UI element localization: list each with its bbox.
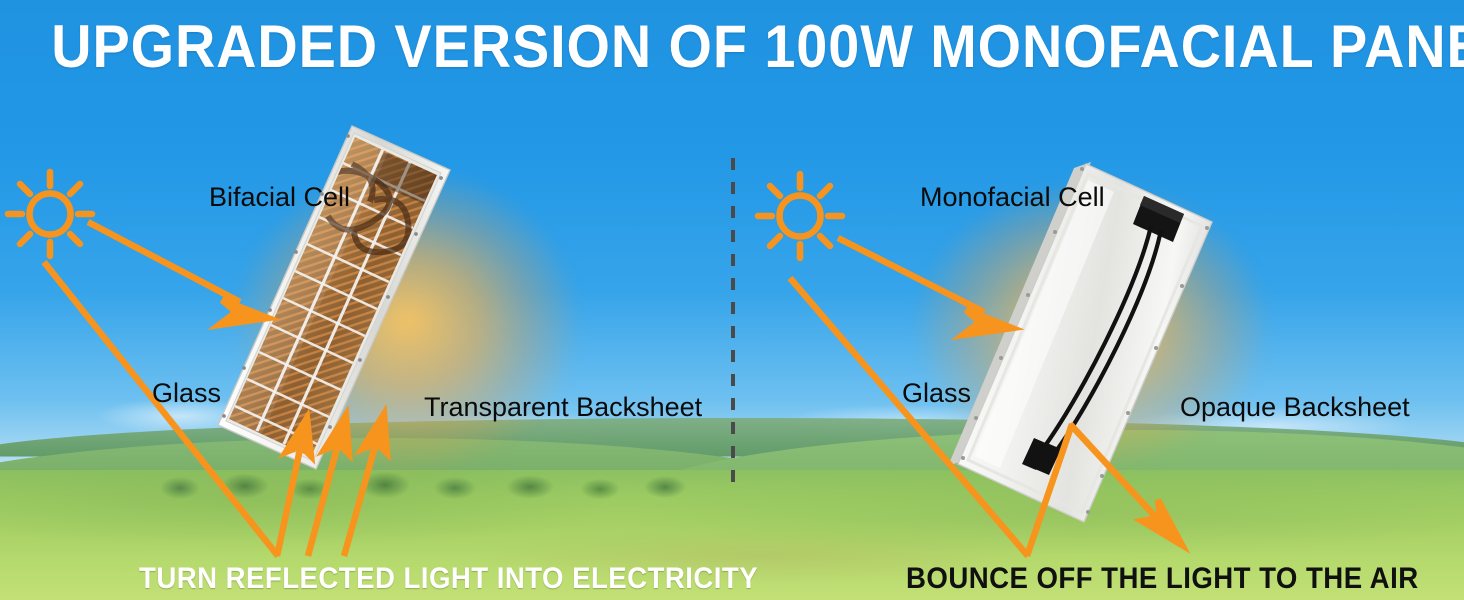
arrow-up-reflected-2 xyxy=(308,415,349,556)
label-transparent-backsheet: Transparent Backsheet xyxy=(424,392,702,422)
label-monofacial-cell: Monofacial Cell xyxy=(920,182,1105,212)
arrow-incident-light-left xyxy=(88,222,268,325)
infographic-canvas: UPGRADED VERSION OF 100W MONOFACIAL PANE… xyxy=(0,0,1464,600)
caption-left: TURN REFLECTED LIGHT INTO ELECTRICITY xyxy=(139,562,758,596)
arrow-bounce-to-air xyxy=(1027,424,1182,556)
label-bifacial-cell: Bifacial Cell xyxy=(209,182,350,212)
arrow-up-reflected-1 xyxy=(277,418,311,556)
arrow-incident-light-right xyxy=(838,238,1012,335)
label-glass-left: Glass xyxy=(152,378,221,408)
caption-right: BOUNCE OFF THE LIGHT TO THE AIR xyxy=(906,562,1419,596)
label-opaque-backsheet: Opaque Backsheet xyxy=(1180,392,1410,422)
page-title: UPGRADED VERSION OF 100W MONOFACIAL PANE… xyxy=(51,14,1413,80)
label-glass-right: Glass xyxy=(902,378,971,408)
section-divider xyxy=(731,158,735,488)
